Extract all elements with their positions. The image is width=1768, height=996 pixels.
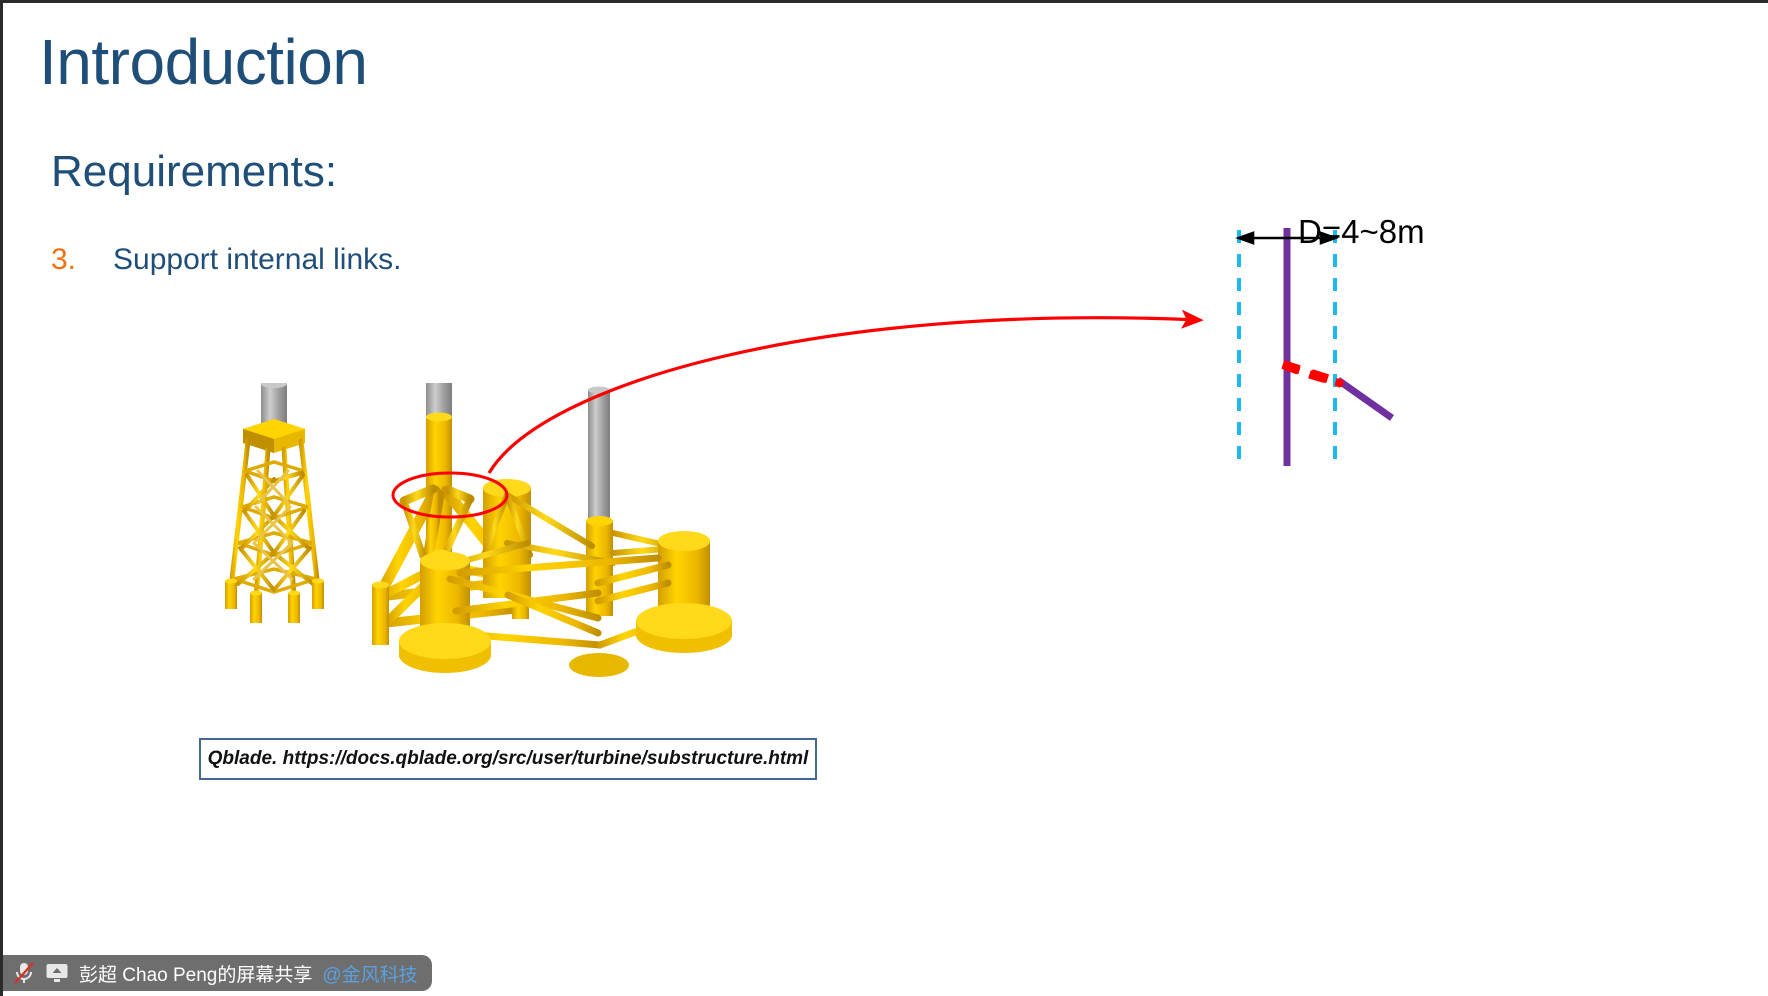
citation-text: Qblade. https://docs.qblade.org/src/user… bbox=[208, 748, 809, 770]
list-item-number: 3. bbox=[51, 243, 113, 277]
red-dashed-deflection-lower-icon bbox=[1283, 364, 1341, 384]
company-tag: @金风科技 bbox=[322, 960, 417, 987]
citation-box: Qblade. https://docs.qblade.org/src/user… bbox=[199, 738, 817, 780]
list-item: 3. Support internal links. bbox=[51, 243, 402, 277]
page-title: Introduction bbox=[39, 27, 367, 97]
substructure-illustration bbox=[198, 383, 798, 683]
screen-share-status-bar[interactable]: 彭超 Chao Peng的屏幕共享 @金风科技 bbox=[3, 955, 432, 991]
monopile-icon bbox=[1287, 228, 1392, 466]
presentation-slide: Introduction Requirements: 3. Support in… bbox=[0, 0, 1768, 996]
jacket-substructure bbox=[225, 383, 324, 623]
microphone-muted-icon[interactable] bbox=[13, 961, 35, 985]
screen-share-icon[interactable] bbox=[45, 962, 69, 984]
presenter-name: 彭超 Chao Peng的屏幕共享 bbox=[79, 960, 312, 987]
requirements-heading: Requirements: bbox=[51, 147, 337, 198]
list-item-label: Support internal links. bbox=[113, 243, 402, 277]
dimension-label: D=4~8m bbox=[1298, 213, 1425, 251]
